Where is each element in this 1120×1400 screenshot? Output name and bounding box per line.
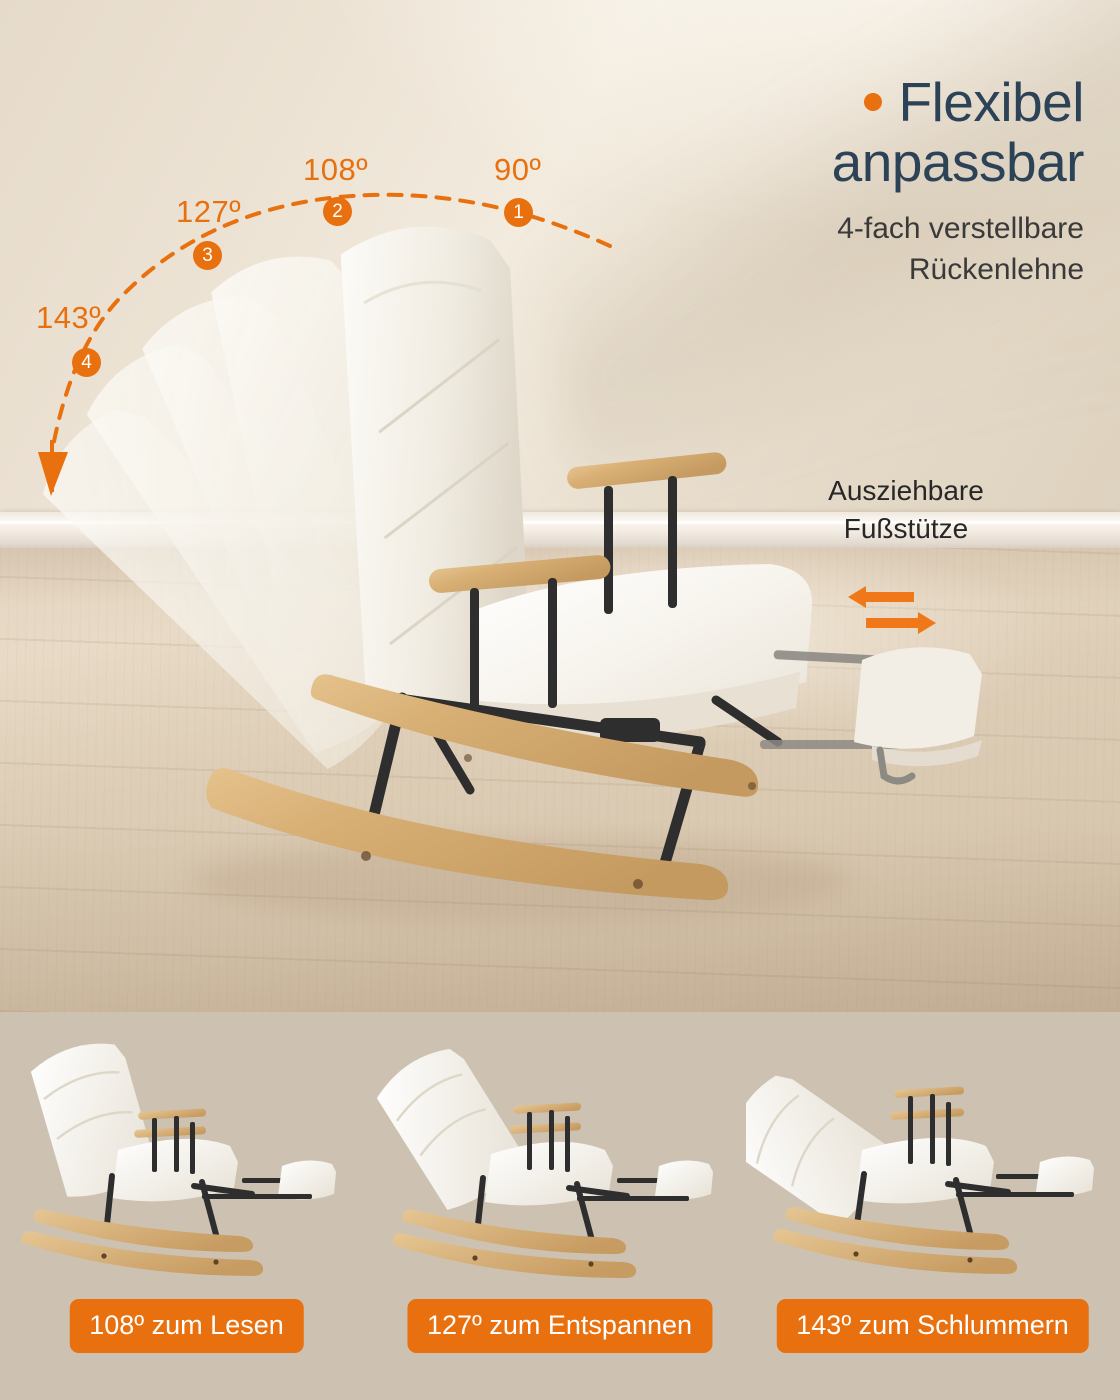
subheadline-line-2: Rückenlehne: [684, 249, 1084, 290]
headline-line-1: Flexibel: [684, 72, 1084, 132]
subheadline-line-1: 4-fach verstellbare: [684, 208, 1084, 249]
recline-marker-1[interactable]: 1: [504, 198, 533, 227]
variant-cell-127[interactable]: 127º zum Entspannen: [373, 1012, 746, 1400]
footrest-callout-line-1: Ausziehbare: [786, 472, 1026, 510]
variant-cell-143[interactable]: 143º zum Schlummern: [746, 1012, 1119, 1400]
variant-chair-127: [373, 1018, 746, 1288]
variant-caption-108[interactable]: 108º zum Lesen: [69, 1299, 303, 1353]
variant-caption-127[interactable]: 127º zum Entspannen: [407, 1299, 712, 1353]
angle-label-2: 108º: [303, 152, 368, 188]
arrow-right-icon: [866, 612, 936, 639]
hero-scene: 90º 1 108º 2 127º 3 143º 4 Flexibel anpa…: [0, 0, 1120, 1012]
angle-label-3: 127º: [176, 194, 241, 230]
headline-line-2: anpassbar: [684, 132, 1084, 192]
variant-strip: 108º zum Lesen: [0, 1012, 1120, 1400]
subheadline-block: 4-fach verstellbare Rückenlehne: [684, 208, 1084, 290]
footrest-callout: Ausziehbare Fußstütze: [786, 472, 1026, 548]
recline-marker-3[interactable]: 3: [193, 241, 222, 270]
arrow-left-icon: [848, 586, 914, 613]
angle-label-4: 143º: [36, 300, 101, 336]
variant-caption-143[interactable]: 143º zum Schlummern: [776, 1299, 1088, 1353]
variant-chair-108: [0, 1018, 373, 1288]
angle-label-1: 90º: [494, 152, 541, 188]
variant-cell-108[interactable]: 108º zum Lesen: [0, 1012, 373, 1400]
variant-chair-143: [746, 1018, 1119, 1288]
recline-marker-4[interactable]: 4: [72, 348, 101, 377]
headline-text-1: Flexibel: [898, 71, 1084, 133]
product-feature-banner: 90º 1 108º 2 127º 3 143º 4 Flexibel anpa…: [0, 0, 1120, 1400]
headline-block: Flexibel anpassbar 4-fach verstellbare R…: [684, 72, 1084, 290]
recline-marker-2[interactable]: 2: [323, 197, 352, 226]
footrest-callout-line-2: Fußstütze: [786, 510, 1026, 548]
bullet-dot-icon: [864, 93, 882, 111]
